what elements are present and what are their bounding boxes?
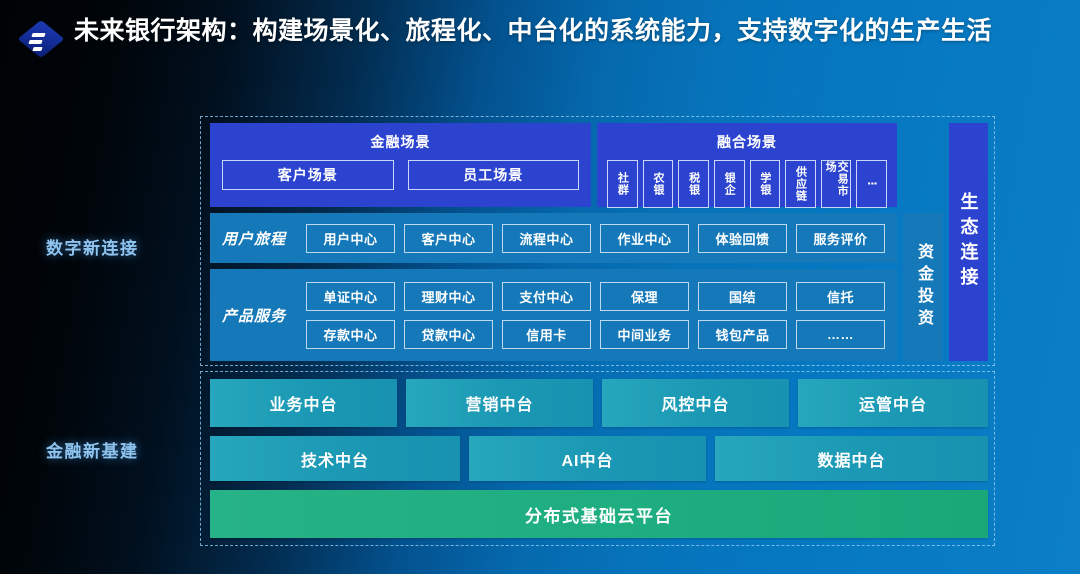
- financial-scenario-title: 金融场景: [371, 132, 431, 152]
- product-item-wallet-product[interactable]: 钱包产品: [698, 320, 787, 349]
- fusion-scenario-title: 融合场景: [717, 132, 777, 152]
- product-item-document-center[interactable]: 单证中心: [306, 282, 395, 311]
- product-service-label: 产品服务: [222, 305, 294, 326]
- fusion-item-bank-enterprise[interactable]: 银企: [714, 160, 745, 208]
- fusion-item-trading-market[interactable]: 交易市场: [821, 160, 852, 208]
- section-label-financial-infrastructure: 金融新基建: [46, 437, 139, 462]
- product-item-wealth-center[interactable]: 理财中心: [404, 282, 493, 311]
- product-item-intermediary[interactable]: 中间业务: [600, 320, 689, 349]
- fusion-item-edu-bank[interactable]: 学银: [750, 160, 781, 208]
- fusion-item-supply-chain[interactable]: 供应链: [785, 160, 816, 208]
- product-item-deposit-center[interactable]: 存款中心: [306, 320, 395, 349]
- journey-item-user-center[interactable]: 用户中心: [306, 224, 395, 253]
- product-service-items: 单证中心 理财中心 支付中心 保理 国结 信托 存款中心 贷款中心 信用卡 中间…: [306, 282, 885, 349]
- column-ecosystem-connection[interactable]: 生态连接: [949, 123, 988, 361]
- product-item-factoring[interactable]: 保理: [600, 282, 689, 311]
- brand-diamond-logo: [20, 20, 62, 62]
- fusion-scenario-panel: 融合场景 社群 农银 税银 银企 学银 供应链 交易市场 ⋮: [597, 123, 897, 207]
- logo-diamond-shape: [18, 20, 65, 58]
- fusion-item-tax-bank[interactable]: 税银: [678, 160, 709, 208]
- journey-item-experience-feedback[interactable]: 体验回馈: [698, 224, 787, 253]
- user-journey-band: 用户旅程 用户中心 客户中心 流程中心 作业中心 体验回馈 服务评价: [210, 213, 897, 263]
- logo-slash-3: [32, 47, 42, 51]
- platform-risk-middle[interactable]: 风控中台: [602, 379, 789, 427]
- logo-slash-2: [28, 40, 42, 44]
- upper-main-column: 金融场景 客户场景 员工场景 融合场景 社群 农银 税银 银企 学银 供应链 交…: [210, 123, 897, 361]
- user-journey-items: 用户中心 客户中心 流程中心 作业中心 体验回馈 服务评价: [306, 224, 885, 253]
- product-item-credit-card[interactable]: 信用卡: [502, 320, 591, 349]
- platform-operations-middle[interactable]: 运管中台: [798, 379, 988, 427]
- platform-marketing-middle[interactable]: 营销中台: [406, 379, 593, 427]
- page-header: 未来银行架构：构建场景化、旅程化、中台化的系统能力，支持数字化的生产生活: [0, 0, 1080, 105]
- logo-slash-1: [31, 33, 45, 37]
- product-item-payment-center[interactable]: 支付中心: [502, 282, 591, 311]
- journey-item-process-center[interactable]: 流程中心: [502, 224, 591, 253]
- user-journey-label: 用户旅程: [222, 228, 294, 249]
- distributed-cloud-platform[interactable]: 分布式基础云平台: [210, 490, 988, 538]
- product-service-band: 产品服务 单证中心 理财中心 支付中心 保理 国结 信托 存款中心 贷款中心 信…: [210, 269, 897, 361]
- platform-technology-middle[interactable]: 技术中台: [210, 436, 460, 481]
- digital-connection-section: 金融场景 客户场景 员工场景 融合场景 社群 农银 税银 银企 学银 供应链 交…: [210, 123, 988, 361]
- fusion-scenario-items: 社群 农银 税银 银企 学银 供应链 交易市场 ⋮: [607, 160, 887, 208]
- financial-scenario-items: 客户场景 员工场景: [222, 160, 579, 190]
- product-item-more[interactable]: ……: [796, 320, 885, 349]
- journey-item-service-rating[interactable]: 服务评价: [796, 224, 885, 253]
- journey-item-operation-center[interactable]: 作业中心: [600, 224, 689, 253]
- platform-ai-middle[interactable]: AI中台: [469, 436, 706, 481]
- fusion-item-community[interactable]: 社群: [607, 160, 638, 208]
- product-service-row-1: 单证中心 理财中心 支付中心 保理 国结 信托: [306, 282, 885, 311]
- page-title: 未来银行架构：构建场景化、旅程化、中台化的系统能力，支持数字化的生产生活: [74, 14, 992, 50]
- financial-scenario-panel: 金融场景 客户场景 员工场景: [210, 123, 591, 207]
- upper-right-columns: 资金投资 生态连接: [903, 123, 988, 361]
- platform-data-middle[interactable]: 数据中台: [715, 436, 988, 481]
- scenario-row: 金融场景 客户场景 员工场景 融合场景 社群 农银 税银 银企 学银 供应链 交…: [210, 123, 897, 207]
- platform-business-middle[interactable]: 业务中台: [210, 379, 397, 427]
- financial-infrastructure-section: 业务中台 营销中台 风控中台 运管中台 技术中台 AI中台 数据中台 分布式基础…: [210, 379, 988, 539]
- section-label-digital-connection: 数字新连接: [46, 234, 139, 259]
- fusion-item-agri-bank[interactable]: 农银: [643, 160, 674, 208]
- product-item-loan-center[interactable]: 贷款中心: [404, 320, 493, 349]
- platform-row-1: 业务中台 营销中台 风控中台 运管中台: [210, 379, 988, 427]
- journey-item-customer-center[interactable]: 客户中心: [404, 224, 493, 253]
- scenario-item-employee[interactable]: 员工场景: [408, 160, 580, 190]
- product-item-trust[interactable]: 信托: [796, 282, 885, 311]
- fusion-item-more[interactable]: ⋮: [856, 160, 887, 208]
- column-fund-investment[interactable]: 资金投资: [903, 213, 943, 361]
- scenario-item-customer[interactable]: 客户场景: [222, 160, 394, 190]
- product-service-row-2: 存款中心 贷款中心 信用卡 中间业务 钱包产品 ……: [306, 320, 885, 349]
- platform-row-2: 技术中台 AI中台 数据中台: [210, 436, 988, 481]
- product-item-intl-settlement[interactable]: 国结: [698, 282, 787, 311]
